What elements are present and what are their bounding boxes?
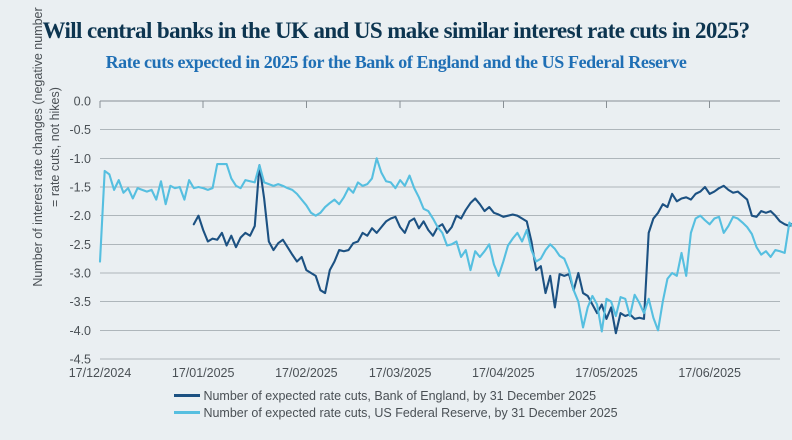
y-axis-tick-label: -0.5	[69, 123, 91, 137]
legend-label-boe: Number of expected rate cuts, Bank of En…	[203, 389, 596, 403]
y-axis-tick-label: -4.0	[69, 324, 91, 338]
line-chart-svg: 0.0-0.5-1.0-1.5-2.0-2.5-3.0-3.5-4.0-4.51…	[0, 0, 792, 440]
x-axis-tick-label: 17/02/2025	[275, 366, 338, 380]
chart-plot-area: 0.0-0.5-1.0-1.5-2.0-2.5-3.0-3.5-4.0-4.51…	[0, 0, 792, 440]
x-axis-tick-label: 17/12/2024	[69, 366, 132, 380]
y-axis-tick-label: -1.5	[69, 181, 91, 195]
y-axis-tick-label: -4.5	[69, 353, 91, 367]
legend-swatch-boe	[174, 394, 200, 397]
x-axis-tick-label: 17/01/2025	[172, 366, 235, 380]
legend-item-fed[interactable]: Number of expected rate cuts, US Federal…	[174, 405, 617, 422]
y-axis-tick-label: -2.0	[69, 209, 91, 223]
y-axis-tick-label: -2.5	[69, 238, 91, 252]
x-axis-tick-label: 17/05/2025	[575, 366, 638, 380]
x-axis-tick-label: 17/04/2025	[472, 366, 535, 380]
y-axis-tick-label: -3.5	[69, 295, 91, 309]
legend-items: Number of expected rate cuts, Bank of En…	[174, 388, 617, 422]
legend-item-boe[interactable]: Number of expected rate cuts, Bank of En…	[174, 388, 617, 405]
series-line-fed	[100, 158, 792, 331]
x-axis-tick-label: 17/03/2025	[369, 366, 432, 380]
series-line-boe	[194, 165, 792, 333]
y-axis-tick-label: 0.0	[74, 95, 91, 109]
legend-label-fed: Number of expected rate cuts, US Federal…	[203, 406, 617, 420]
y-axis-tick-label: -1.0	[69, 152, 91, 166]
x-axis-tick-label: 17/06/2025	[678, 366, 741, 380]
y-axis-tick-label: -3.0	[69, 267, 91, 281]
legend-swatch-fed	[174, 411, 200, 414]
chart-legend: Number of expected rate cuts, Bank of En…	[0, 388, 792, 422]
chart-page: Will central banks in the UK and US make…	[0, 0, 792, 440]
